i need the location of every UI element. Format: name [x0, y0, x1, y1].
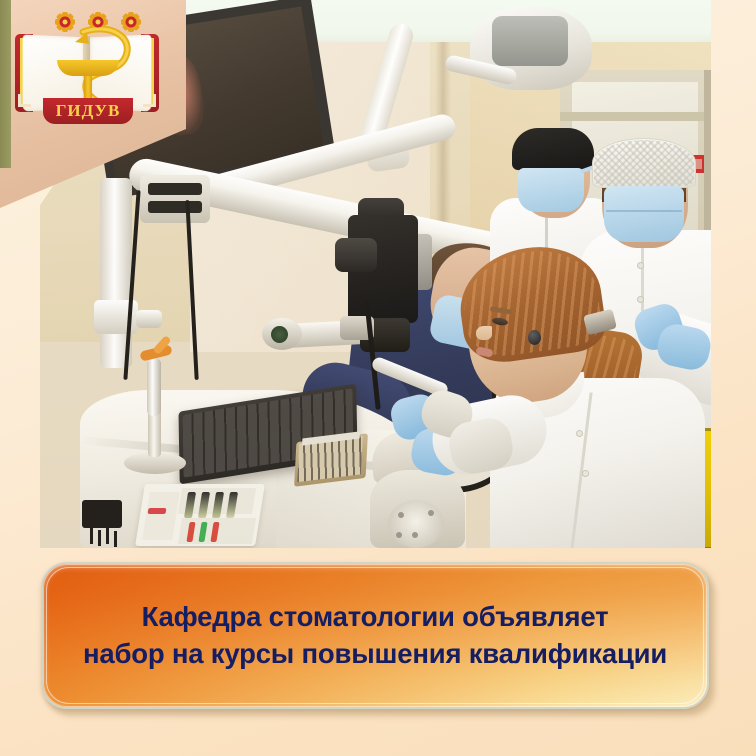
poster-root: ГИДУВ Кафедра стоматологии объявляет наб… — [0, 0, 756, 756]
banner-text: Кафедра стоматологии объявляет набор на … — [55, 599, 695, 672]
logo-side-strip — [0, 0, 11, 168]
announcement-banner: Кафедра стоматологии объявляет набор на … — [41, 562, 715, 716]
greek-key-right-icon — [143, 94, 156, 107]
banner-line-2: набор на курсы повышения квалификации — [55, 636, 695, 673]
logo-ribbon-text: ГИДУВ — [43, 100, 133, 122]
greek-key-left-icon — [18, 94, 31, 107]
banner-surface: Кафедра стоматологии объявляет набор на … — [41, 562, 709, 709]
gidouv-emblem: ГИДУВ — [13, 6, 160, 116]
bowl-of-hygieia-icon — [57, 60, 119, 76]
banner-line-1: Кафедра стоматологии объявляет — [55, 599, 695, 636]
